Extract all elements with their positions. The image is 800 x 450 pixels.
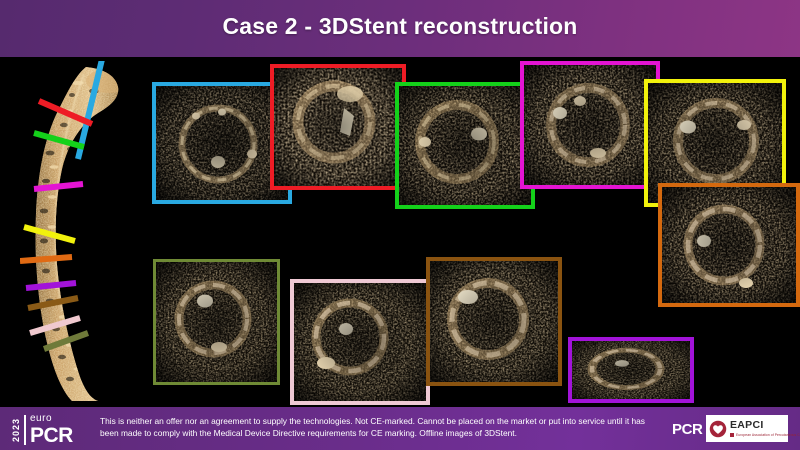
oct-cross-section-pink[interactable]: [290, 279, 430, 405]
page-title: Case 2 - 3DStent reconstruction: [0, 13, 800, 40]
oct-cross-section-green[interactable]: [395, 82, 535, 209]
oct-image-pink: [290, 279, 430, 405]
eapci-subtitle-row: European Association of Percutaneous Car…: [730, 432, 800, 437]
oct-cross-section-orange[interactable]: [658, 183, 800, 307]
oct-image-olive: [153, 259, 280, 385]
slide-footer: 2023 euro PCR This is neither an offer n…: [0, 407, 800, 450]
cross-section-marker-orange: [20, 257, 72, 261]
eapci-mark-icon: [730, 433, 734, 437]
cross-section-marker-purple: [26, 283, 76, 288]
oct-image-green: [395, 82, 535, 209]
europcr-logo: 2023 euro PCR: [12, 413, 92, 447]
main-stage: [0, 57, 800, 407]
oct-cross-section-magenta[interactable]: [520, 61, 660, 189]
oct-cross-section-olive[interactable]: [153, 259, 280, 385]
eapci-wordmark: EAPCI European Association of Percutaneo…: [730, 420, 800, 437]
pcr-logo-right: PCR: [672, 421, 702, 438]
oct-image-purple: [568, 337, 694, 403]
oct-image-orange: [658, 183, 800, 307]
oct-cross-section-red[interactable]: [270, 64, 406, 190]
eapci-subtitle: European Association of Percutaneous Car…: [736, 434, 800, 437]
stent-3d-reconstruction-render: [20, 61, 150, 401]
europcr-logo-euro: euro: [30, 414, 73, 424]
eapci-name: EAPCI: [730, 420, 800, 431]
oct-image-brown: [426, 257, 562, 386]
eapci-logo: EAPCI European Association of Percutaneo…: [706, 415, 788, 442]
oct-image-red: [270, 64, 406, 190]
oct-cross-section-brown[interactable]: [426, 257, 562, 386]
oct-cross-section-purple[interactable]: [568, 337, 694, 403]
heart-icon: [709, 420, 727, 438]
disclaimer-text: This is neither an offer nor an agreemen…: [100, 416, 656, 439]
europcr-logo-pcr: PCR: [30, 425, 73, 446]
slide-root: Case 2 - 3DStent reconstruction: [0, 0, 800, 450]
oct-image-magenta: [520, 61, 660, 189]
europcr-logo-divider: [24, 415, 26, 445]
stent-3d-reconstruction[interactable]: [20, 61, 150, 401]
europcr-logo-wordmark: euro PCR: [30, 414, 73, 446]
slide-header: Case 2 - 3DStent reconstruction: [0, 0, 800, 57]
europcr-logo-year: 2023: [12, 418, 21, 442]
